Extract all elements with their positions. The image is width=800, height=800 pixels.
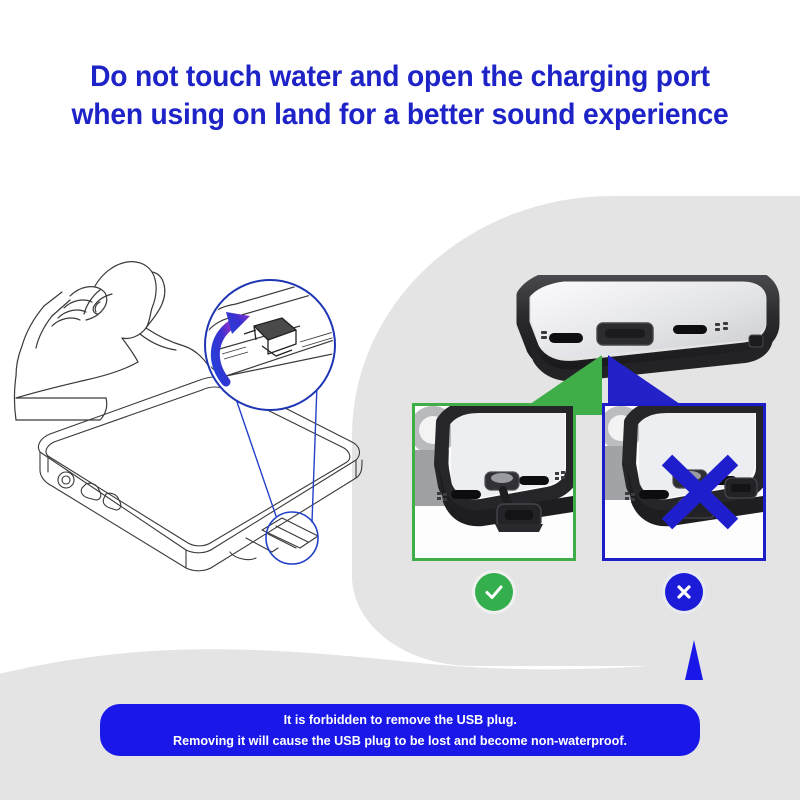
banner-line-2: Removing it will cause the USB plug to b… — [173, 731, 627, 751]
banner-up-arrow — [683, 640, 705, 680]
check-icon — [483, 581, 505, 603]
status-badge-correct — [475, 573, 513, 611]
photo-composition — [400, 255, 800, 675]
close-icon — [674, 582, 694, 602]
status-badge-incorrect — [665, 573, 703, 611]
panel-correct — [412, 403, 576, 561]
title-line-2: when using on land for a better sound ex… — [24, 96, 776, 134]
panel-incorrect — [602, 403, 766, 561]
magnifier-detail — [205, 270, 356, 410]
warning-banner: It is forbidden to remove the USB plug. … — [100, 704, 700, 756]
instruction-image: Do not touch water and open the charging… — [0, 0, 800, 800]
photo-plug-removed — [605, 406, 763, 558]
line-art-illustration — [0, 230, 400, 630]
port-locator-circle — [266, 512, 318, 564]
page-title: Do not touch water and open the charging… — [0, 58, 800, 135]
banner-line-1: It is forbidden to remove the USB plug. — [283, 710, 516, 730]
photo-plug-attached — [415, 406, 573, 558]
title-line-1: Do not touch water and open the charging… — [24, 58, 776, 96]
person-figure — [15, 262, 213, 420]
